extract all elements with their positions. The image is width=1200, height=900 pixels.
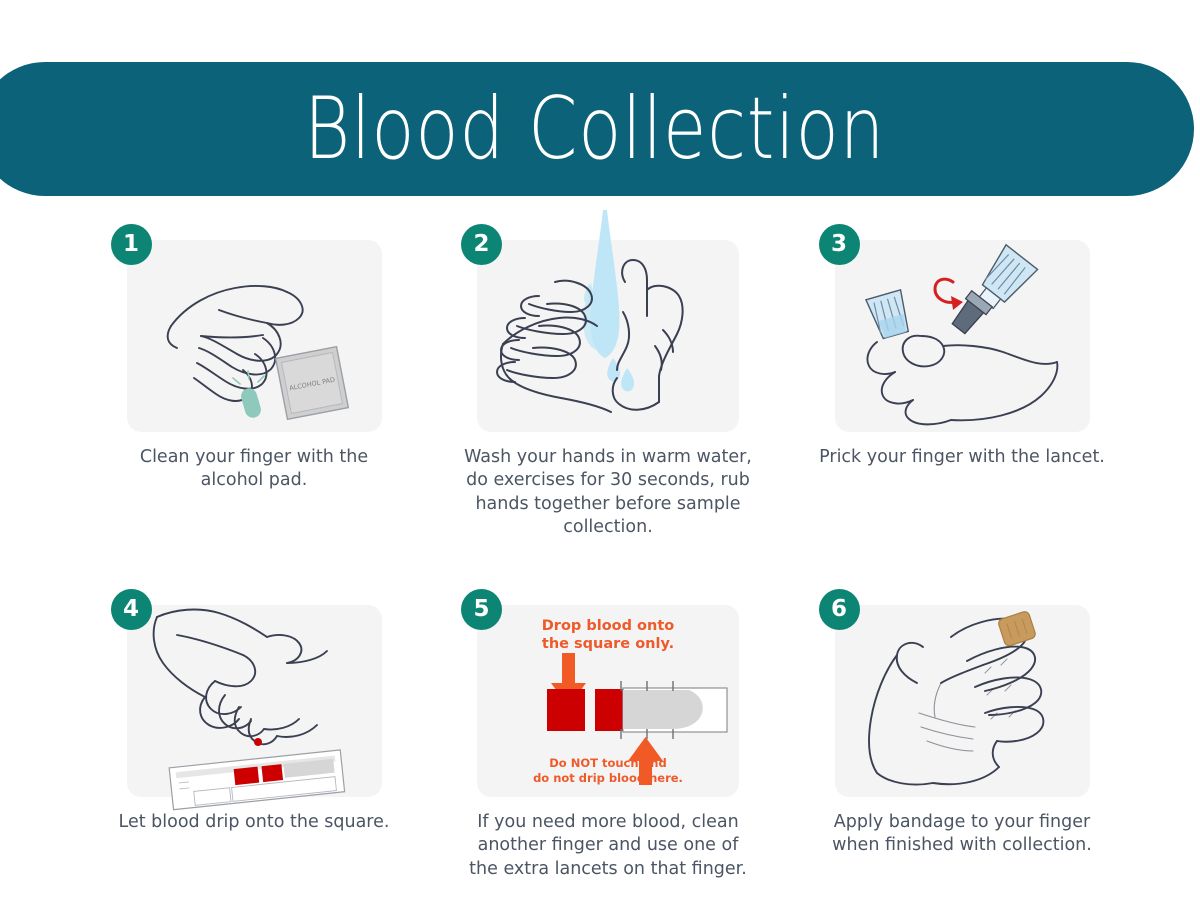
step-badge-3: 3 — [819, 224, 860, 265]
step-5-caption: If you need more blood, clean another fi… — [458, 811, 758, 881]
step-card-2: 2 — [458, 240, 758, 539]
steps-grid: 1 — [104, 240, 1112, 881]
step-card-3: 3 — [812, 240, 1112, 539]
step-card-1: 1 — [104, 240, 404, 539]
blood-drip-illustration — [127, 591, 382, 801]
alcohol-pad-packet: ALCOHOL PAD — [275, 347, 348, 420]
step-6-caption: Apply bandage to your finger when finish… — [812, 811, 1112, 858]
warning-bottom-line-2: do not drip blood here. — [477, 771, 739, 785]
step-badge-5: 5 — [461, 589, 502, 630]
step-1-caption: Clean your finger with the alcohol pad. — [104, 446, 404, 493]
alcohol-swab-icon — [239, 386, 263, 419]
step-badge-5-label: 5 — [473, 598, 489, 621]
warning-bottom-text: Do NOT touch and do not drip blood here. — [477, 756, 739, 785]
step-badge-3-label: 3 — [831, 233, 847, 256]
step-5-art-panel: 5 Drop blood onto the square only. — [477, 605, 739, 797]
blood-collection-infographic: Blood Collection 1 — [0, 0, 1200, 900]
warning-top-line-2: the square only. — [477, 635, 739, 653]
twist-arrow-icon — [935, 279, 963, 310]
step-card-5: 5 Drop blood onto the square only. — [458, 605, 758, 881]
step-card-6: 6 — [812, 605, 1112, 881]
step-2-art-panel: 2 — [477, 240, 739, 432]
step-4-caption: Let blood drip onto the square. — [104, 811, 404, 834]
step-badge-4-label: 4 — [123, 598, 139, 621]
step-badge-6: 6 — [819, 589, 860, 630]
blood-square-1 — [547, 689, 585, 731]
step-badge-4: 4 — [111, 589, 152, 630]
water-stream-icon — [583, 210, 619, 358]
apply-bandage-illustration — [835, 591, 1090, 801]
step-badge-1-label: 1 — [123, 233, 139, 256]
bandage-icon — [997, 610, 1036, 647]
collection-card-icon — [169, 750, 344, 810]
lancet-on-finger-icon — [865, 290, 911, 340]
step-4-art-panel: 4 — [127, 605, 382, 797]
warning-bottom-line-1: Do NOT touch and — [477, 756, 739, 770]
step-1-art-panel: 1 — [127, 240, 382, 432]
step-badge-2-label: 2 — [473, 233, 489, 256]
step-6-art-panel: 6 — [835, 605, 1090, 797]
step-card-4: 4 — [104, 605, 404, 881]
warning-top-text: Drop blood onto the square only. — [477, 617, 739, 653]
wash-hands-illustration — [477, 226, 739, 436]
fingertip-blood-drop-icon — [254, 738, 262, 746]
step-3-caption: Prick your finger with the lancet. — [812, 446, 1112, 469]
step-3-art-panel: 3 — [835, 240, 1090, 432]
step-badge-1: 1 — [111, 224, 152, 265]
steps-row-bottom: 4 — [104, 605, 1112, 881]
clean-finger-illustration: ALCOHOL PAD — [127, 226, 382, 436]
step-badge-6-label: 6 — [831, 598, 847, 621]
step-2-caption: Wash your hands in warm water, do exerci… — [458, 446, 758, 539]
step-badge-2: 2 — [461, 224, 502, 265]
page-title: Blood Collection — [287, 86, 885, 172]
header-banner: Blood Collection — [0, 62, 1194, 196]
lancet-prick-illustration — [835, 226, 1090, 436]
blood-square-2 — [595, 689, 625, 731]
steps-row-top: 1 — [104, 240, 1112, 539]
warning-top-line-1: Drop blood onto — [477, 617, 739, 635]
